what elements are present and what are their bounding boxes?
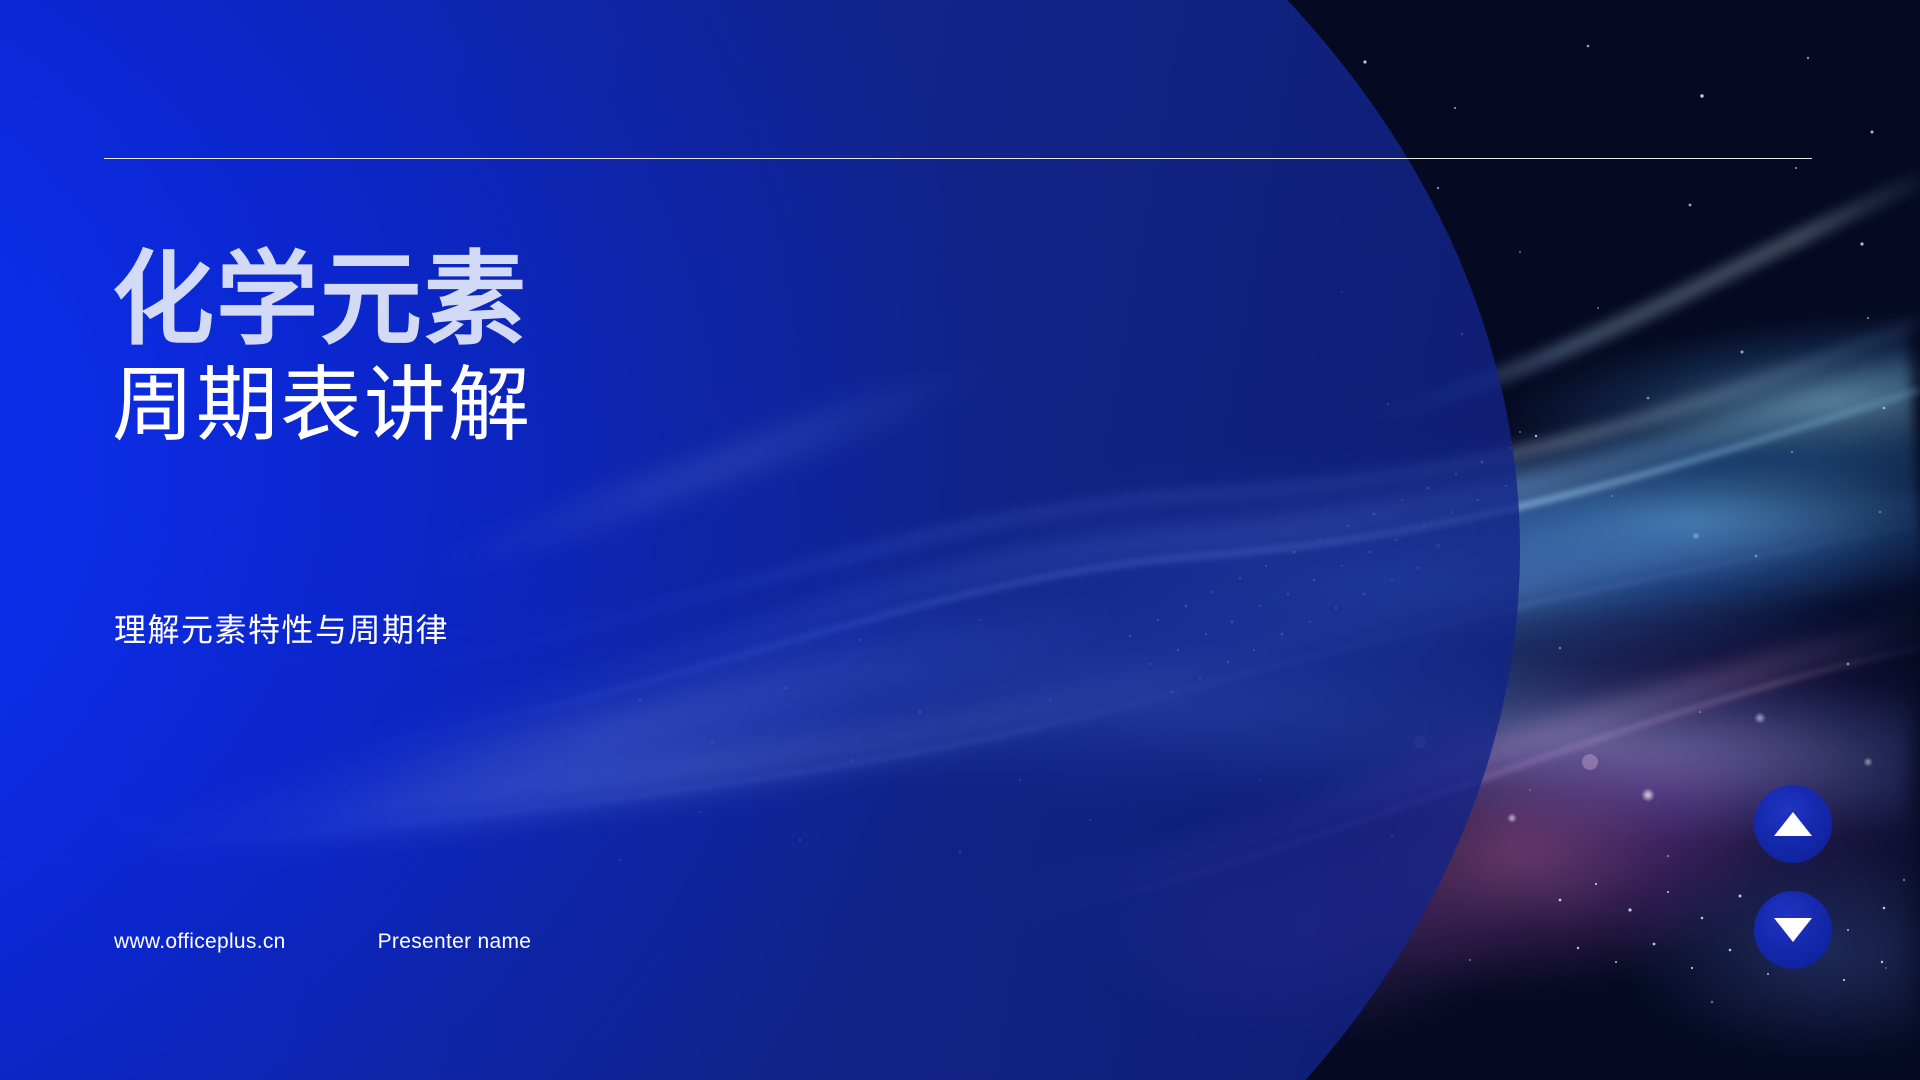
slide-footer: www.officeplus.cn Presenter name bbox=[114, 930, 531, 954]
slide-title-line-1: 化学元素 bbox=[112, 248, 1012, 352]
triangle-up-icon bbox=[1774, 812, 1812, 836]
presentation-slide: 化学元素 周期表讲解 理解元素特性与周期律 www.officeplus.cn … bbox=[0, 0, 1920, 1080]
slide-title-line-2: 周期表讲解 bbox=[112, 358, 1012, 455]
slide-content: 化学元素 周期表讲解 理解元素特性与周期律 www.officeplus.cn … bbox=[0, 0, 1920, 1080]
footer-presenter-name: Presenter name bbox=[378, 930, 532, 954]
previous-slide-button[interactable] bbox=[1754, 785, 1832, 863]
slide-subtitle: 理解元素特性与周期律 bbox=[114, 605, 449, 651]
next-slide-button[interactable] bbox=[1754, 891, 1832, 969]
slide-navigation-controls bbox=[1754, 785, 1832, 969]
footer-website[interactable]: www.officeplus.cn bbox=[114, 930, 286, 954]
title-block: 化学元素 周期表讲解 bbox=[112, 248, 1012, 455]
header-divider-line bbox=[104, 158, 1812, 159]
triangle-down-icon bbox=[1774, 918, 1812, 942]
